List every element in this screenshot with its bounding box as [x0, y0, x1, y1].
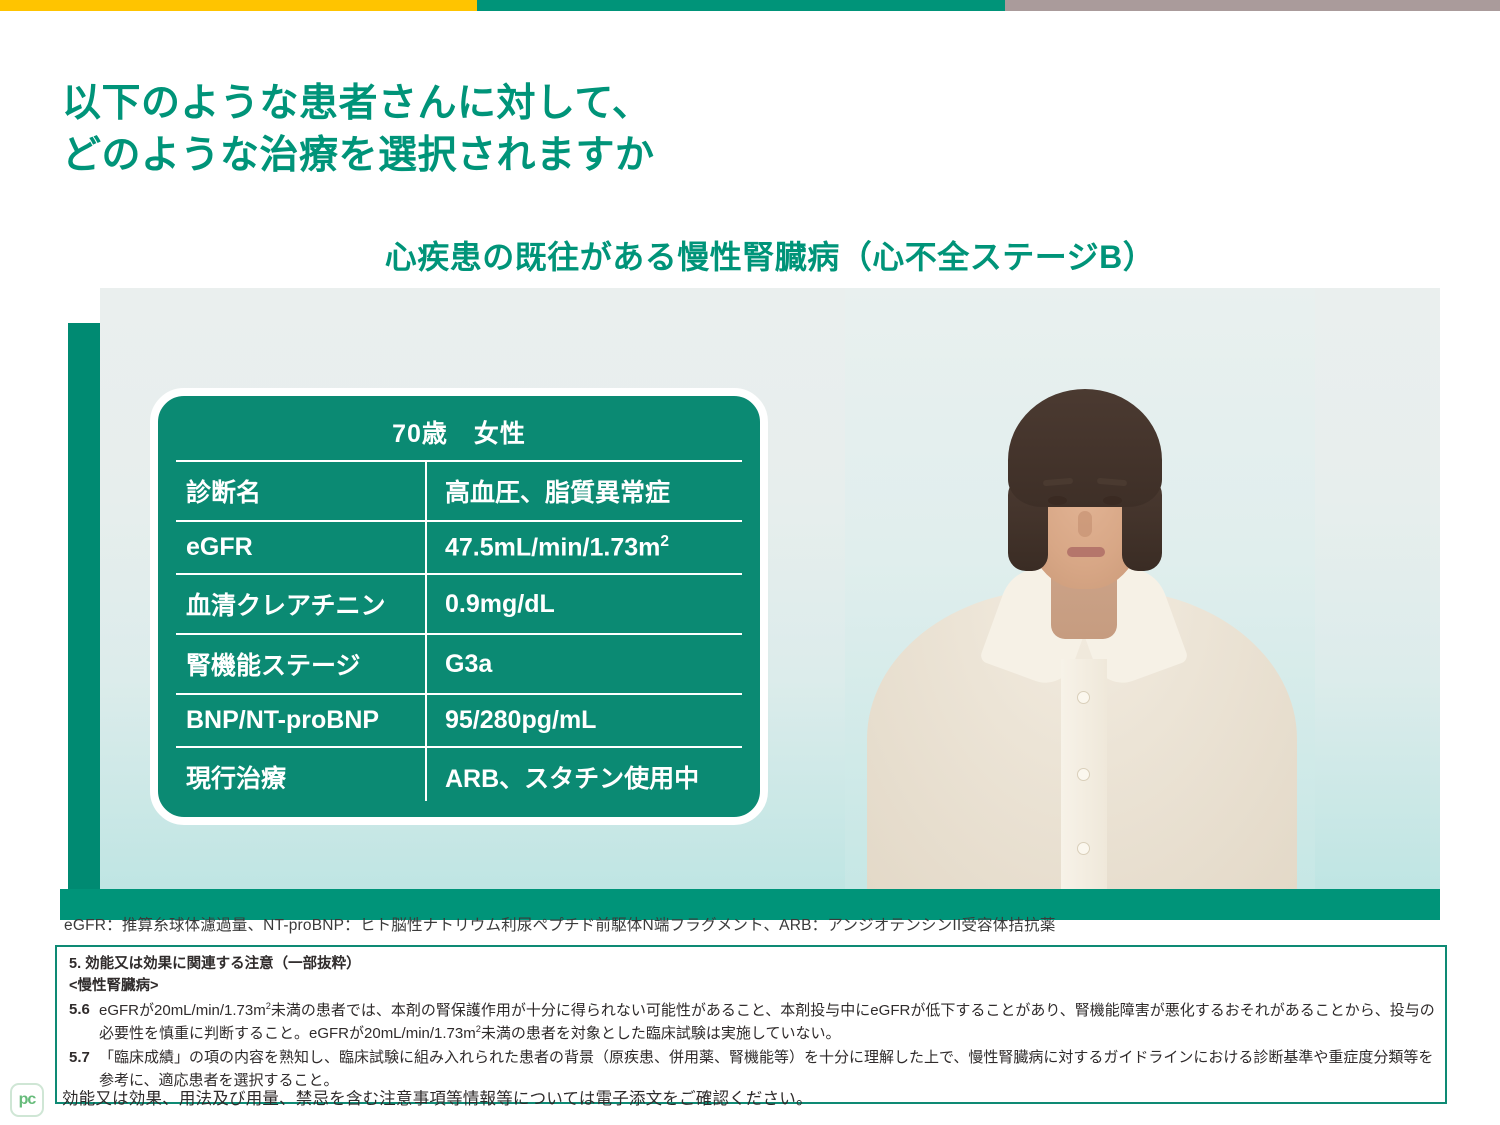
table-row: 血清クレアチニン 0.9mg/dL — [176, 574, 742, 634]
row-value: 47.5mL/min/1.73m2 — [426, 521, 742, 574]
precaution-title: 5. 効能又は効果に関連する注意（一部抜粋） — [69, 954, 1435, 976]
table-row: 現行治療 ARB、スタチン使用中 — [176, 747, 742, 801]
row-label: 腎機能ステージ — [176, 634, 426, 694]
row-label: 血清クレアチニン — [176, 574, 426, 634]
row-value-text: 47.5mL/min/1.73m — [445, 533, 660, 561]
precaution-item-text: eGFRが20mL/min/1.73m2未満の患者では、本剤の腎保護作用が十分に… — [99, 999, 1435, 1047]
row-label: 診断名 — [176, 461, 426, 521]
abbreviation-note: eGFR：推算糸球体濾過量、NT-proBNP：ヒト脳性ナトリウム利尿ペプチド前… — [64, 913, 1056, 935]
photo-button-3 — [1077, 842, 1090, 855]
photo-eye-left — [1048, 496, 1067, 505]
top-color-bar — [0, 0, 1500, 11]
row-value: ARB、スタチン使用中 — [426, 747, 742, 801]
precaution-text-part-1: eGFRが20mL/min/1.73m — [99, 1002, 266, 1019]
row-value: 0.9mg/dL — [426, 574, 742, 634]
precaution-item-number: 5.6 — [69, 999, 99, 1047]
top-bar-segment-yellow — [0, 0, 477, 11]
top-bar-segment-teal — [477, 0, 1005, 11]
row-label: eGFR — [176, 521, 426, 574]
row-value: G3a — [426, 634, 742, 694]
photo-button-2 — [1077, 768, 1090, 781]
patient-photo — [845, 288, 1315, 889]
table-row: BNP/NT-proBNP 95/280pg/mL — [176, 694, 742, 747]
patient-info-table: 診断名 高血圧、脂質異常症 eGFR 47.5mL/min/1.73m2 血清ク… — [176, 460, 742, 801]
slide-root: 以下のような患者さんに対して、 どのような治療を選択されますか 心疾患の既往があ… — [0, 0, 1500, 1125]
precaution-subtitle: <慢性腎臓病> — [69, 976, 1435, 998]
precaution-box: 5. 効能又は効果に関連する注意（一部抜粋） <慢性腎臓病> 5.6 eGFRが… — [55, 945, 1447, 1104]
page-title: 以下のような患者さんに対して、 どのような治療を選択されますか — [62, 78, 1062, 183]
precaution-item-5-6: 5.6 eGFRが20mL/min/1.73m2未満の患者では、本剤の腎保護作用… — [69, 999, 1435, 1047]
row-value: 高血圧、脂質異常症 — [426, 461, 742, 521]
photo-button-1 — [1077, 691, 1090, 704]
page-subtitle: 心疾患の既往がある慢性腎臓病（心不全ステージB） — [100, 232, 1440, 278]
patient-info-card: 70歳 女性 診断名 高血圧、脂質異常症 eGFR 47.5mL/min/1.7… — [150, 388, 768, 825]
row-value: 95/280pg/mL — [426, 694, 742, 747]
row-label: BNP/NT-proBNP — [176, 694, 426, 747]
row-value-superscript: 2 — [660, 533, 669, 550]
pc-logo-icon: pc — [10, 1083, 44, 1117]
photo-nose — [1078, 511, 1092, 537]
precaution-text-part-3: 未満の患者を対象とした臨床試験は実施していない。 — [481, 1025, 841, 1042]
table-row: 診断名 高血圧、脂質異常症 — [176, 461, 742, 521]
table-row: 腎機能ステージ G3a — [176, 634, 742, 694]
table-row: eGFR 47.5mL/min/1.73m2 — [176, 521, 742, 574]
row-label: 現行治療 — [176, 747, 426, 801]
top-bar-segment-mauve — [1005, 0, 1500, 11]
patient-card-header: 70歳 女性 — [176, 410, 742, 460]
photo-eye-right — [1103, 496, 1122, 505]
footer-note: 効能又は効果、用法及び用量、禁忌を含む注意事項等情報等については電子添文をご確認… — [62, 1085, 813, 1109]
photo-mouth — [1067, 547, 1105, 557]
